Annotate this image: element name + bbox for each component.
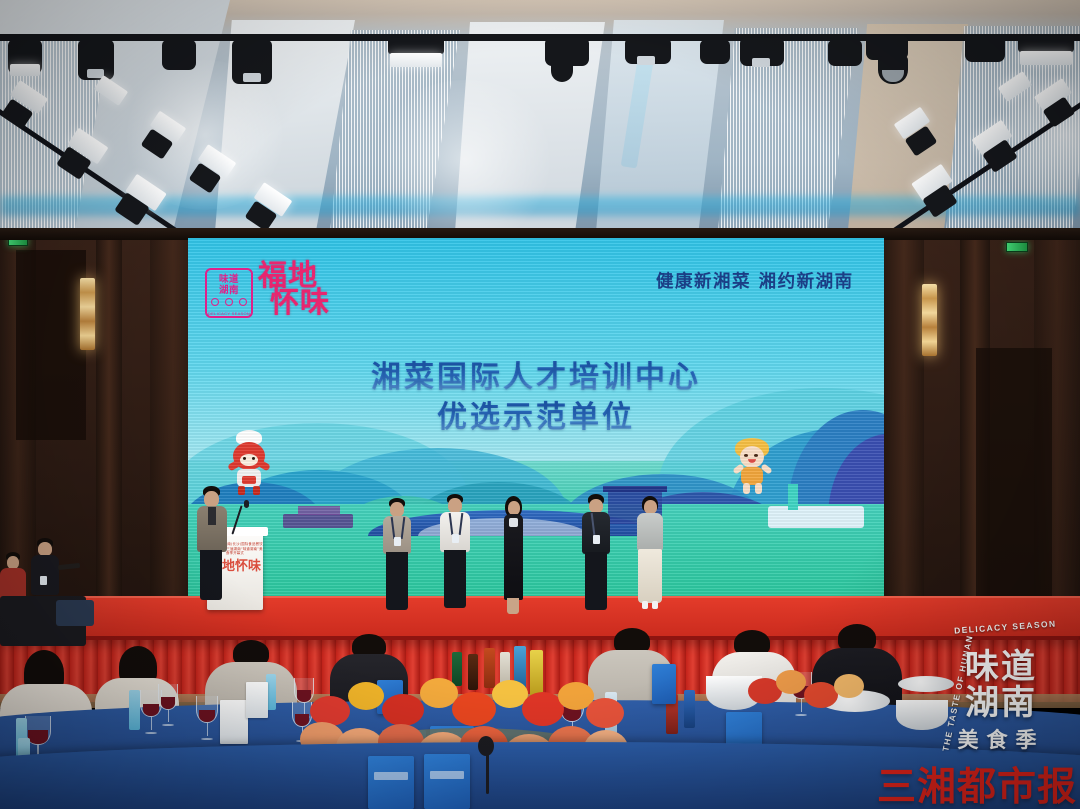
- flower-peach: [834, 674, 864, 698]
- screen-building: [768, 506, 864, 528]
- name-badge: [394, 537, 401, 546]
- name-badge: [593, 535, 600, 544]
- mascot-leg: [238, 486, 245, 495]
- stage-light: [965, 36, 1005, 62]
- person-head: [390, 502, 404, 517]
- wine-glass: [158, 684, 178, 726]
- wine: [28, 730, 48, 743]
- newspaper-watermark: 三湘都市报: [874, 756, 1080, 809]
- stage-light: [828, 40, 862, 66]
- person-shirt: [31, 555, 59, 595]
- wall-panel: [884, 228, 924, 620]
- screen-headline: 湘菜国际人才培训中心 优选示范单位: [188, 358, 884, 438]
- flower-orange: [776, 670, 806, 694]
- stage-light: [8, 40, 42, 74]
- seal-text-line1: 味道: [205, 275, 253, 284]
- stage-light-panel: [1020, 51, 1072, 65]
- person-legs: [200, 550, 222, 600]
- flower-red: [452, 692, 496, 726]
- person-shirt: [582, 512, 610, 554]
- flower-red: [382, 694, 424, 726]
- event-watermark: DELICACY SEASON THE TASTE OF HUNAN THE T…: [928, 616, 1074, 766]
- mascot-apron: [242, 476, 256, 484]
- ceiling-lighting-rig: [0, 0, 1080, 232]
- glass-bowl: [196, 696, 218, 723]
- wall-sconce: [80, 278, 95, 350]
- person-head: [644, 500, 657, 514]
- glass-stem: [151, 717, 152, 729]
- mascot-face: [240, 454, 258, 466]
- water-bottle: [129, 690, 140, 730]
- wall-panel: [96, 228, 122, 620]
- lighting-truss: [0, 34, 1080, 41]
- person-head: [448, 498, 462, 513]
- hall-wall-right: [884, 228, 1080, 620]
- stage-light-bar: [1018, 36, 1074, 52]
- stage-light-lens: [243, 73, 261, 82]
- event-slogan: 健康新湘菜 湘约新湖南: [656, 268, 854, 293]
- stage-light-lens: [752, 58, 770, 67]
- floral-accent-right: [748, 668, 868, 728]
- person-legs: [507, 598, 519, 614]
- stage-light-lens: [637, 56, 655, 65]
- brand-wordmark-line2: 怀味: [270, 289, 330, 316]
- glass-stem: [168, 710, 169, 722]
- stage-light: [162, 40, 196, 70]
- person-head: [204, 491, 219, 507]
- wine-glass: [196, 696, 218, 740]
- wine: [161, 697, 176, 709]
- person-shirt: [440, 512, 470, 552]
- honoree-3: [498, 496, 528, 618]
- flower-yellow: [348, 682, 384, 710]
- mascot-eye: [754, 454, 758, 457]
- screen-village-roof: [298, 506, 340, 515]
- seal-dots: [211, 298, 247, 306]
- gift-box: [424, 754, 470, 809]
- headline-line-1: 湘菜国际人才培训中心: [188, 358, 884, 398]
- honoree-2: [438, 494, 472, 614]
- glass-stem: [207, 723, 208, 735]
- beverage-bottle: [684, 690, 695, 728]
- exit-sign: [1006, 242, 1028, 252]
- person-head: [508, 501, 520, 515]
- honoree-5: [634, 496, 666, 618]
- screen-tower: [788, 484, 798, 510]
- stage-light: [740, 38, 784, 66]
- stage-light: [545, 38, 589, 66]
- wall-sconce: [922, 284, 937, 356]
- name-badge: [40, 576, 47, 585]
- wine: [199, 710, 215, 723]
- brand-seal-logo: 味道 湖南 DELICACY SEASON: [205, 268, 253, 318]
- moving-head-barrel: [878, 56, 908, 84]
- hall-doorway: [976, 348, 1052, 620]
- person-legs: [444, 550, 466, 608]
- watermark-title-line1: 味道: [928, 650, 1074, 684]
- mascot-eye: [243, 457, 246, 460]
- mascot-leg: [755, 483, 762, 494]
- mascot-right-gold: [732, 438, 772, 496]
- stage-light-bar: [388, 38, 444, 54]
- conference-stage-photo: 味道 湖南 DELICACY SEASON 福地 怀味 健康新湘菜 湘约新湖南 …: [0, 0, 1080, 809]
- brand-wordmark: 福地 怀味: [258, 262, 330, 316]
- stage-light-lens: [10, 64, 40, 76]
- honoree-1: [381, 498, 413, 614]
- mascot-eye: [744, 454, 748, 457]
- name-badge: [452, 534, 459, 543]
- seal-english-text: DELICACY SEASON: [205, 311, 253, 316]
- moving-head-barrel: [551, 60, 573, 82]
- microphone-capsule: [244, 500, 249, 508]
- person-shirt: [383, 516, 411, 554]
- moving-head-lens: [882, 70, 904, 82]
- screen-landmark-roof: [603, 486, 667, 492]
- flower-red: [804, 682, 838, 708]
- watermark-subtitle: 美食季: [928, 724, 1074, 754]
- person-head: [38, 542, 52, 556]
- flower-red: [586, 698, 624, 728]
- mascot-eye: [252, 457, 255, 460]
- person-legs: [386, 552, 408, 610]
- person-skirt: [638, 549, 662, 603]
- person-inner-shirt: [208, 507, 216, 525]
- person-shoe: [652, 601, 658, 609]
- glass-foot: [145, 732, 157, 734]
- person-blouse: [637, 513, 663, 551]
- stage-light: [78, 40, 114, 80]
- gift-box: [368, 756, 414, 809]
- glass-foot: [201, 738, 213, 740]
- speaker-at-podium: [196, 486, 228, 608]
- table-microphone-head: [478, 736, 494, 756]
- headline-line-2: 优选示范单位: [188, 398, 884, 438]
- honoree-4: [580, 494, 612, 616]
- stage-light: [700, 40, 730, 64]
- mascot-leg: [253, 486, 260, 495]
- glass-foot: [162, 724, 173, 726]
- gift-box: [652, 664, 676, 704]
- screen-village: [283, 514, 353, 528]
- watermark-title-line2: 湖南: [928, 686, 1074, 720]
- dress-collar-detail: [509, 518, 518, 527]
- wine: [143, 704, 159, 717]
- glass-bowl: [158, 684, 178, 710]
- place-card: [220, 700, 248, 744]
- mascot-head: [740, 446, 764, 468]
- mascot-leg: [743, 483, 750, 494]
- mascot-left-red: [228, 432, 270, 496]
- person-legs: [585, 552, 607, 610]
- stage-light: [625, 38, 671, 64]
- person-shoe: [642, 601, 648, 609]
- monitor-screen: [56, 600, 94, 626]
- stage-light: [232, 40, 272, 84]
- hall-doorway: [16, 250, 86, 440]
- person-head: [589, 499, 603, 513]
- light-glow: [370, 80, 560, 232]
- seal-text-line2: 湖南: [205, 286, 253, 295]
- stage-floor: [0, 598, 1080, 640]
- place-card: [246, 682, 268, 718]
- stage-light-panel: [390, 53, 442, 67]
